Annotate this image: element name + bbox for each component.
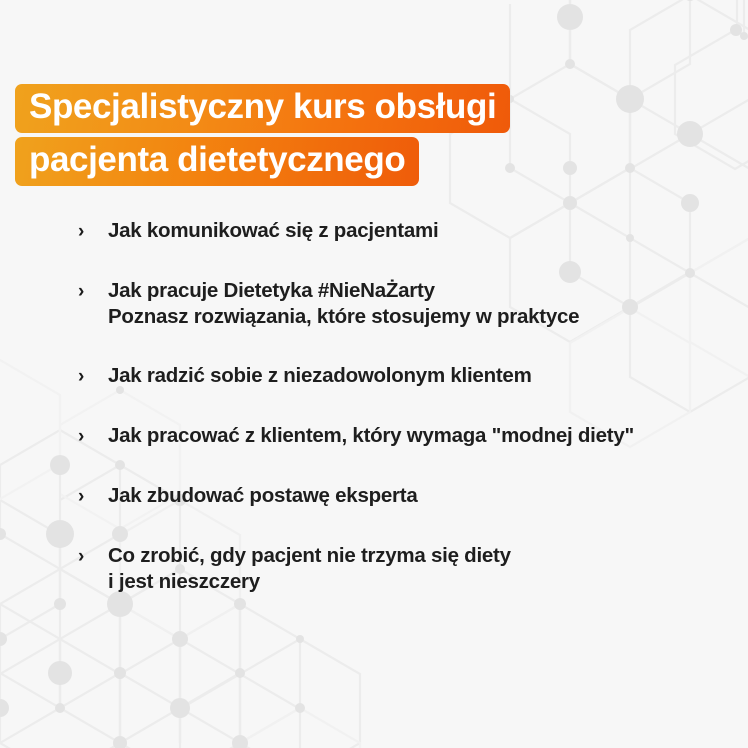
list-item-line-1: Jak radzić sobie z niezadowolonym klient… [108, 364, 532, 387]
chevron-right-icon: › [78, 483, 108, 510]
list-item: › Co zrobić, gdy pacjent nie trzyma się … [78, 543, 748, 595]
list-item-line-1: Jak pracuje Dietetyka #NieNaŻarty [108, 279, 435, 302]
list-item-line-2: i jest nieszczery [108, 569, 748, 595]
list-item-line-1: Jak komunikować się z pacjentami [108, 219, 438, 242]
feature-bullet-list: › Jak komunikować się z pacjentami › Jak… [78, 218, 748, 595]
list-item: › Jak pracować z klientem, który wymaga … [78, 423, 748, 450]
list-item-line-1: Co zrobić, gdy pacjent nie trzyma się di… [108, 544, 511, 567]
chevron-right-icon: › [78, 423, 108, 450]
list-item-text: Jak pracować z klientem, który wymaga "m… [108, 423, 748, 449]
promo-slide: Specjalistyczny kurs obsługi pacjenta di… [0, 0, 748, 748]
list-item-line-2: Poznasz rozwiązania, które stosujemy w p… [108, 304, 748, 330]
title-line-1: Specjalistyczny kurs obsługi [15, 84, 510, 133]
page-title: Specjalistyczny kurs obsługi pacjenta di… [0, 84, 748, 190]
chevron-right-icon: › [78, 363, 108, 390]
chevron-right-icon: › [78, 218, 108, 245]
list-item: › Jak zbudować postawę eksperta [78, 483, 748, 510]
list-item: › Jak pracuje Dietetyka #NieNaŻarty Pozn… [78, 278, 748, 330]
title-line-2: pacjenta dietetycznego [15, 137, 419, 186]
list-item-text: Jak pracuje Dietetyka #NieNaŻarty Poznas… [108, 278, 748, 330]
list-item-text: Jak komunikować się z pacjentami [108, 218, 748, 244]
list-item-text: Jak radzić sobie z niezadowolonym klient… [108, 363, 748, 389]
list-item: › Jak komunikować się z pacjentami [78, 218, 748, 245]
list-item-line-1: Jak zbudować postawę eksperta [108, 484, 417, 507]
list-item: › Jak radzić sobie z niezadowolonym klie… [78, 363, 748, 390]
list-item-text: Jak zbudować postawę eksperta [108, 483, 748, 509]
list-item-text: Co zrobić, gdy pacjent nie trzyma się di… [108, 543, 748, 595]
chevron-right-icon: › [78, 278, 108, 305]
chevron-right-icon: › [78, 543, 108, 570]
list-item-line-1: Jak pracować z klientem, który wymaga "m… [108, 424, 634, 447]
